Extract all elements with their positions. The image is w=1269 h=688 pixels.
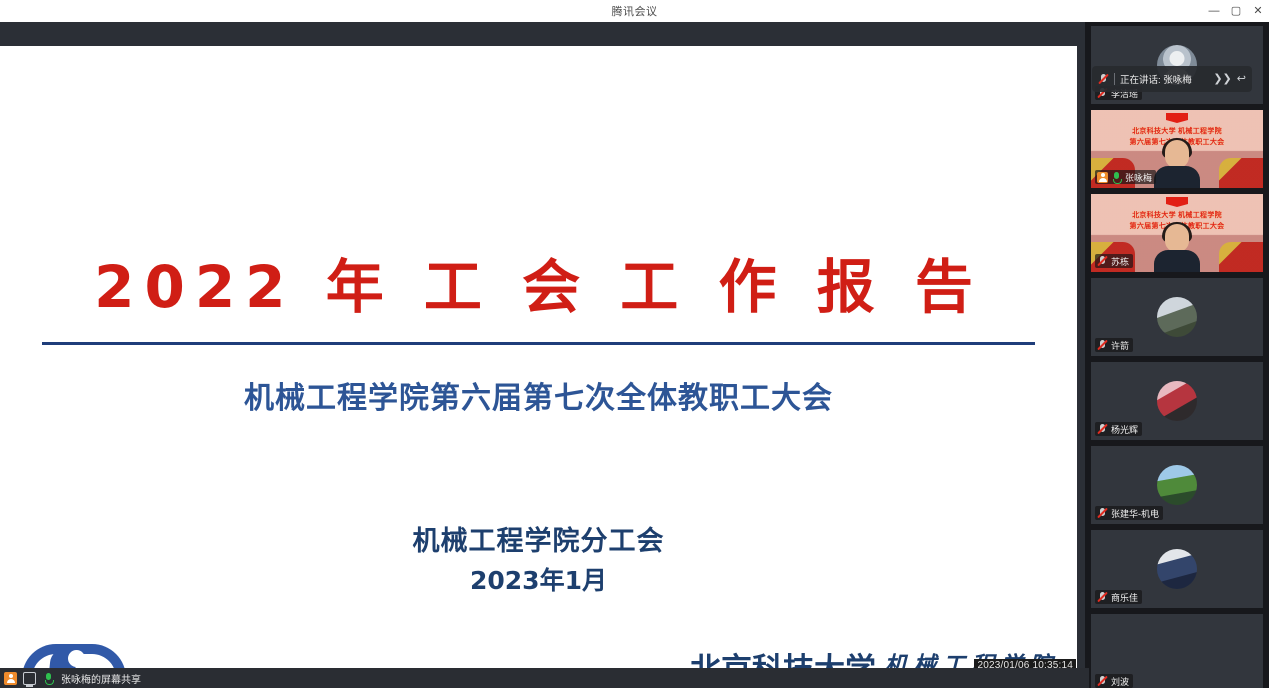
participant-tile[interactable]: 张建华-机电 <box>1091 446 1263 524</box>
participant-name: 杨光辉 <box>1111 423 1138 436</box>
participant-tile[interactable]: 北京科技大学 机械工程学院第六届第七次全体教职工大会张咏梅 <box>1091 110 1263 188</box>
avatar <box>1157 381 1197 421</box>
participant-video-rail[interactable]: 李洁瑶北京科技大学 机械工程学院第六届第七次全体教职工大会张咏梅北京科技大学 机… <box>1085 22 1269 688</box>
participant-nameplate: 张建华-机电 <box>1095 506 1163 520</box>
close-button[interactable]: ✕ <box>1247 0 1269 22</box>
toast-divider <box>1114 73 1115 85</box>
title-underline-rule <box>42 342 1035 345</box>
mic-muted-icon <box>1097 676 1108 687</box>
participant-tile[interactable]: 商乐佳 <box>1091 530 1263 608</box>
window-title: 腾讯会议 <box>612 3 658 19</box>
avatar <box>1157 549 1197 589</box>
mic-muted-icon <box>1097 592 1108 603</box>
participant-tile[interactable]: 杨光辉 <box>1091 362 1263 440</box>
participant-nameplate: 杨光辉 <box>1095 422 1142 436</box>
mic-muted-icon <box>1098 74 1109 85</box>
mic-on-icon <box>1111 172 1122 183</box>
participant-tile[interactable]: 刘波 <box>1091 614 1263 688</box>
participant-name: 商乐佳 <box>1111 591 1138 604</box>
shared-screen-area[interactable]: 2022 年 工 会 工 作 报 告 机械工程学院第六届第七次全体教职工大会 机… <box>0 46 1077 680</box>
avatar <box>1157 465 1197 505</box>
participant-tile[interactable]: 许箭 <box>1091 278 1263 356</box>
maximize-button[interactable]: ▢ <box>1225 0 1247 22</box>
participant-nameplate: 刘波 <box>1095 674 1133 688</box>
participant-nameplate: 张咏梅 <box>1095 170 1156 184</box>
screen-share-icon[interactable] <box>23 672 36 685</box>
slide-title: 2022 年 工 会 工 作 报 告 <box>0 258 1077 316</box>
mic-muted-icon <box>1097 340 1108 351</box>
participant-name: 张建华-机电 <box>1111 507 1159 520</box>
slide-organization: 机械工程学院分工会 <box>0 519 1077 558</box>
slide-subtitle: 机械工程学院第六届第七次全体教职工大会 <box>0 373 1077 417</box>
participant-name: 苏栋 <box>1111 255 1129 268</box>
window-title-bar: 腾讯会议 — ▢ ✕ <box>0 0 1269 23</box>
presentation-slide: 2022 年 工 会 工 作 报 告 机械工程学院第六届第七次全体教职工大会 机… <box>0 46 1077 680</box>
arrow-back-icon[interactable]: ↩ <box>1237 74 1246 85</box>
window-controls: — ▢ ✕ <box>1203 0 1269 22</box>
mic-muted-icon <box>1097 508 1108 519</box>
host-icon <box>1097 172 1108 183</box>
participant-nameplate: 商乐佳 <box>1095 590 1142 604</box>
avatar <box>1157 297 1197 337</box>
participant-name: 许箭 <box>1111 339 1129 352</box>
mic-muted-icon <box>1097 256 1108 267</box>
chevron-right-icon[interactable]: ❯❯ <box>1213 74 1231 85</box>
slide-date: 2023年1月 <box>0 561 1077 597</box>
active-speaker-toast[interactable]: 正在讲话: 张咏梅 ❯❯ ↩ <box>1092 66 1252 92</box>
participant-nameplate: 苏栋 <box>1095 254 1133 268</box>
microphone-icon[interactable] <box>42 672 55 685</box>
participant-name: 张咏梅 <box>1125 171 1152 184</box>
minimize-button[interactable]: — <box>1203 0 1225 22</box>
participant-tile[interactable]: 李洁瑶 <box>1091 26 1263 104</box>
meeting-stage: 2022 年 工 会 工 作 报 告 机械工程学院第六届第七次全体教职工大会 机… <box>0 22 1269 688</box>
participant-icon <box>4 672 17 685</box>
banner-line-1: 北京科技大学 机械工程学院 <box>1132 126 1222 136</box>
banner-line-1: 北京科技大学 机械工程学院 <box>1132 210 1222 220</box>
screen-share-label: 张咏梅的屏幕共享 <box>61 671 141 686</box>
active-speaker-label: 正在讲话: 张咏梅 <box>1120 72 1208 86</box>
participant-nameplate: 许箭 <box>1095 338 1133 352</box>
mic-muted-icon <box>1097 424 1108 435</box>
participant-tile[interactable]: 北京科技大学 机械工程学院第六届第七次全体教职工大会苏栋 <box>1091 194 1263 272</box>
screen-share-status-bar: 张咏梅的屏幕共享 <box>0 668 1089 688</box>
participant-name: 刘波 <box>1111 675 1129 688</box>
